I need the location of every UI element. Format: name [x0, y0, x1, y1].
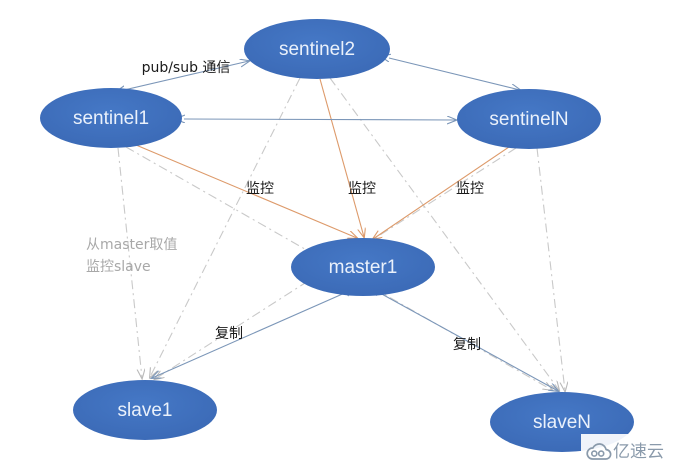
edge-group-replicate — [152, 292, 558, 391]
node-label-sentinel2: sentinel2 — [279, 39, 355, 60]
watermark-label: 亿速云 — [613, 442, 664, 462]
edge-label-group: pub/sub 通信 监控 监控 监控 复制 复制 — [142, 60, 484, 353]
edge-label-monitor-mid: 监控 — [348, 181, 376, 197]
node-label-master1: master1 — [329, 257, 398, 278]
edge-group-monitor — [136, 79, 509, 239]
edge-sentinelN-slaveN — [537, 148, 565, 391]
edge-sentinel2-sentinelN — [389, 58, 520, 90]
edge-label-replicate-right: 复制 — [453, 336, 481, 353]
node-master1[interactable]: master1 — [291, 238, 435, 296]
node-label-sentinel1: sentinel1 — [73, 108, 149, 129]
edge-master1-slave1 — [152, 292, 347, 378]
edge-label-replicate-left: 复制 — [215, 325, 243, 342]
edge-label-monitor-left: 监控 — [246, 181, 274, 197]
edge-label-pubsub: pub/sub 通信 — [142, 60, 231, 76]
node-sentinel2[interactable]: sentinel2 — [244, 19, 390, 79]
edge-sentinelN-master1 — [373, 147, 509, 239]
gray-note-line2: 监控slave — [86, 259, 151, 275]
node-slave1[interactable]: slave1 — [73, 380, 217, 440]
diagram-canvas: sentinel2 sentinel1 sentinelN master1 sl… — [0, 0, 680, 475]
watermark: 亿速云 — [581, 434, 677, 471]
edge-sentinel2-master1 — [320, 79, 364, 237]
gray-note: 从master取值 监控slave — [86, 237, 177, 275]
node-label-slave1: slave1 — [118, 400, 173, 421]
gray-note-line1: 从master取值 — [86, 237, 177, 253]
edge-label-monitor-right: 监控 — [456, 181, 484, 197]
node-sentineln[interactable]: sentinelN — [457, 89, 601, 149]
node-label-slaven: slaveN — [533, 412, 591, 433]
node-label-sentineln: sentinelN — [489, 109, 568, 130]
edge-sentinel1-sentinelN — [184, 119, 456, 120]
node-sentinel1[interactable]: sentinel1 — [40, 88, 182, 148]
redis-sentinel-diagram: sentinel2 sentinel1 sentinelN master1 sl… — [0, 0, 680, 475]
